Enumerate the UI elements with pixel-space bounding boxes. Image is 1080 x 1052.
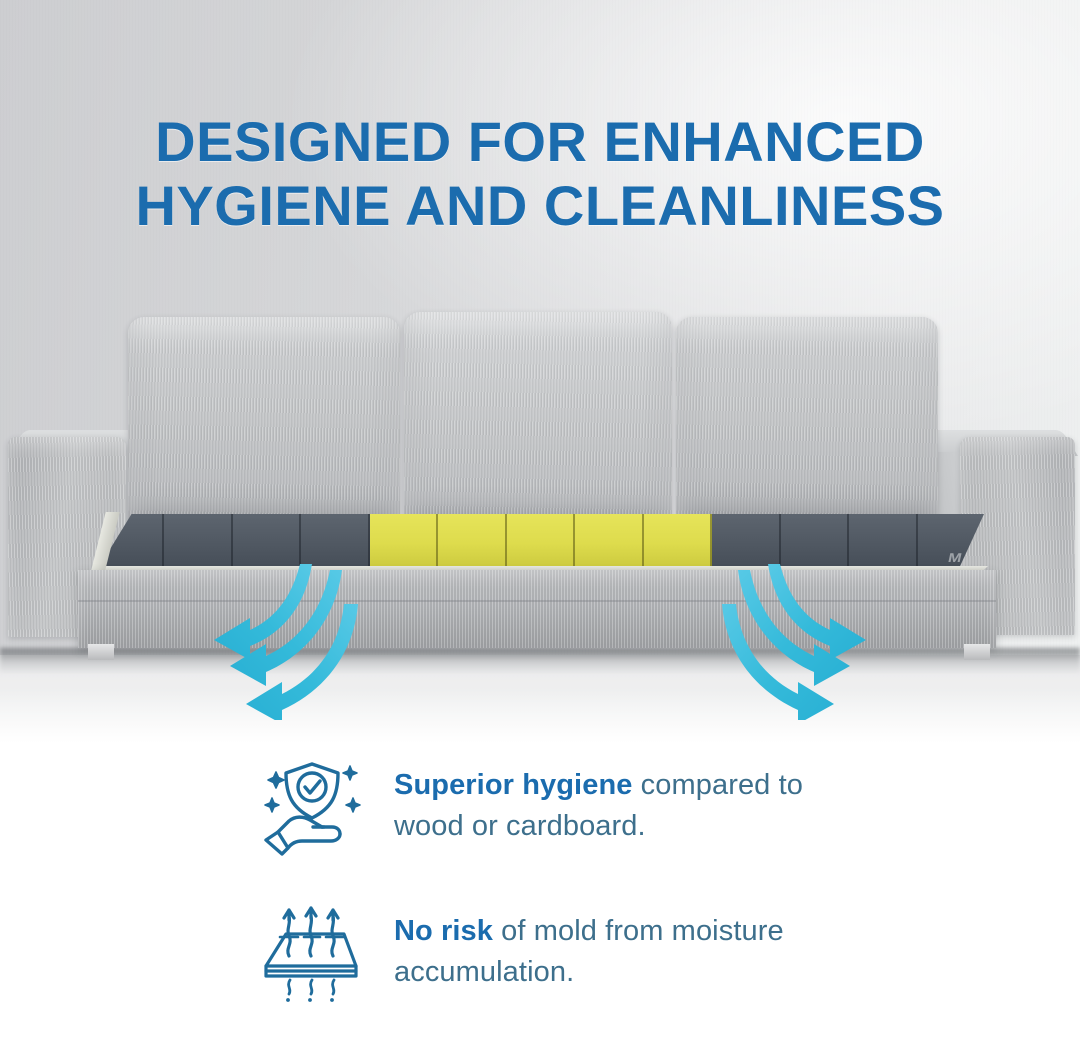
- sofa-back-cushion-left: [128, 317, 400, 529]
- feature-bold-hygiene: Superior hygiene: [394, 769, 633, 801]
- page-title: DESIGNED FOR ENHANCED HYGIENE AND CLEANL…: [0, 110, 1080, 238]
- feature-bold-no-mold: No risk: [394, 915, 493, 947]
- airflow-arrow-group-left: [214, 564, 358, 720]
- airflow-arrows: [0, 560, 1080, 720]
- feature-item-no-mold: No risk of mold from moisture accumulati…: [258, 900, 864, 1004]
- feature-item-hygiene: Superior hygiene compared to wood or car…: [258, 754, 864, 858]
- product-infographic-poster: M: [0, 0, 1080, 1052]
- headline-line-1: DESIGNED FOR ENHANCED: [0, 110, 1080, 174]
- headline-line-2: HYGIENE AND CLEANLINESS: [0, 174, 1080, 238]
- feature-list: Superior hygiene compared to wood or car…: [0, 742, 1080, 1052]
- sofa-back-cushion-right: [676, 317, 938, 527]
- feature-text-no-mold: No risk of mold from moisture accumulati…: [394, 911, 864, 993]
- airflow-arrow-group-right: [722, 564, 866, 720]
- shield-hand-sparkle-icon: [258, 754, 366, 858]
- breathable-slab-airflow-icon: [258, 900, 366, 1004]
- feature-text-hygiene: Superior hygiene compared to wood or car…: [394, 765, 864, 847]
- sofa-back-cushion-center: [404, 312, 672, 530]
